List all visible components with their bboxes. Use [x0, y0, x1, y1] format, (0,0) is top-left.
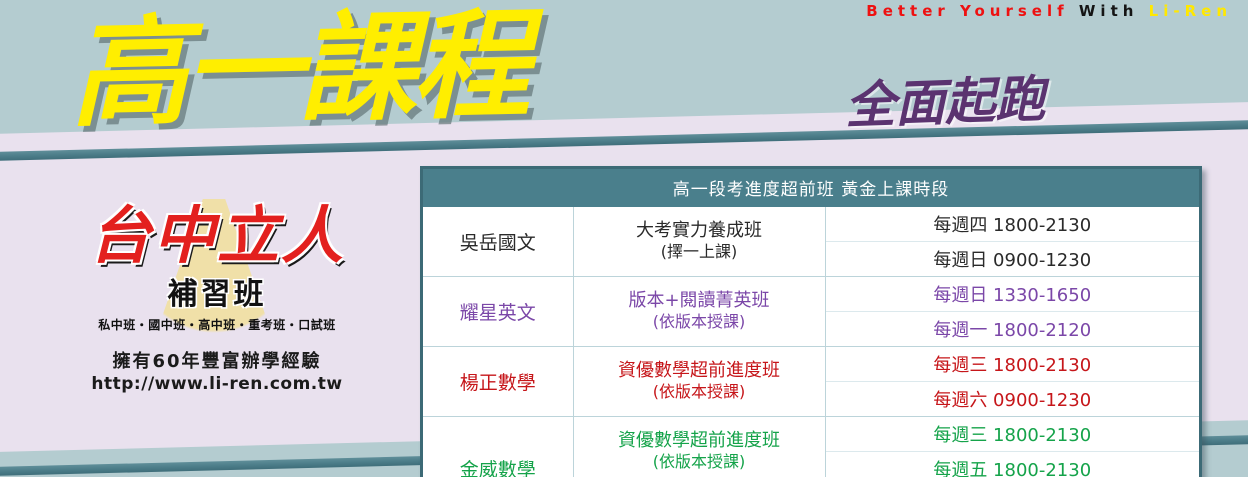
- class-time: 每週三 1800-2130: [825, 347, 1199, 382]
- teacher-name: 金威數學: [423, 417, 573, 477]
- table-row: 楊正數學資優數學超前進度班(依版本授課)每週三 1800-2130: [423, 347, 1199, 382]
- logo-subname: 補習班: [52, 269, 382, 313]
- page-subtitle: 全面起跑: [844, 59, 1046, 138]
- course-name: 大考實力養成班(擇一上課): [573, 207, 825, 277]
- logo-experience: 擁有60年豐富辦學經驗: [52, 347, 382, 373]
- table-row: 耀星英文版本+閱讀菁英班(依版本授課)每週日 1330-1650: [423, 277, 1199, 312]
- logo-name: 台中立人: [52, 205, 382, 267]
- schedule-header: 高一段考進度超前班 黃金上課時段: [423, 169, 1199, 207]
- class-time: 每週日 1330-1650: [825, 277, 1199, 312]
- page-title: 高一課程: [69, 2, 528, 135]
- class-time: 每週一 1800-2120: [825, 312, 1199, 347]
- course-name: 版本+閱讀菁英班(依版本授課): [573, 277, 825, 347]
- course-name: 資優數學超前進度班(依版本授課): [573, 347, 825, 417]
- tagline-black: With: [1079, 2, 1139, 20]
- course-name: 資優數學超前進度班(依版本授課): [573, 417, 825, 477]
- class-time: 每週日 0900-1230: [825, 242, 1199, 277]
- tagline-red: Better Yourself: [866, 2, 1068, 20]
- schedule-table: 高一段考進度超前班 黃金上課時段 吳岳國文大考實力養成班(擇一上課)每週四 18…: [423, 169, 1199, 477]
- table-row: 吳岳國文大考實力養成班(擇一上課)每週四 1800-2130: [423, 207, 1199, 242]
- tagline-yellow: Li-Ren: [1149, 2, 1232, 20]
- table-row: 金威數學資優數學超前進度班(依版本授課)每週三 1800-2130: [423, 417, 1199, 452]
- teacher-name: 吳岳國文: [423, 207, 573, 277]
- schedule-body: 吳岳國文大考實力養成班(擇一上課)每週四 1800-2130每週日 0900-1…: [423, 207, 1199, 477]
- teacher-name: 楊正數學: [423, 347, 573, 417]
- schedule-table-container: 高一段考進度超前班 黃金上課時段 吳岳國文大考實力養成班(擇一上課)每週四 18…: [420, 166, 1202, 477]
- class-time: 每週六 0900-1230: [825, 382, 1199, 417]
- teacher-name: 耀星英文: [423, 277, 573, 347]
- class-time: 每週四 1800-2130: [825, 207, 1199, 242]
- logo-url[interactable]: http://www.li-ren.com.tw: [52, 374, 382, 394]
- class-time: 每週三 1800-2130: [825, 417, 1199, 452]
- logo: 台中立人 補習班 私中班・國中班・高中班・重考班・口試班 擁有60年豐富辦學經驗…: [52, 205, 382, 394]
- logo-class-list: 私中班・國中班・高中班・重考班・口試班: [52, 316, 382, 333]
- class-time: 每週五 1800-2130: [825, 452, 1199, 477]
- banner-canvas: Better Yourself With Li-Ren 高一課程 全面起跑 台中…: [0, 0, 1248, 477]
- table-header-row: 高一段考進度超前班 黃金上課時段: [423, 169, 1199, 207]
